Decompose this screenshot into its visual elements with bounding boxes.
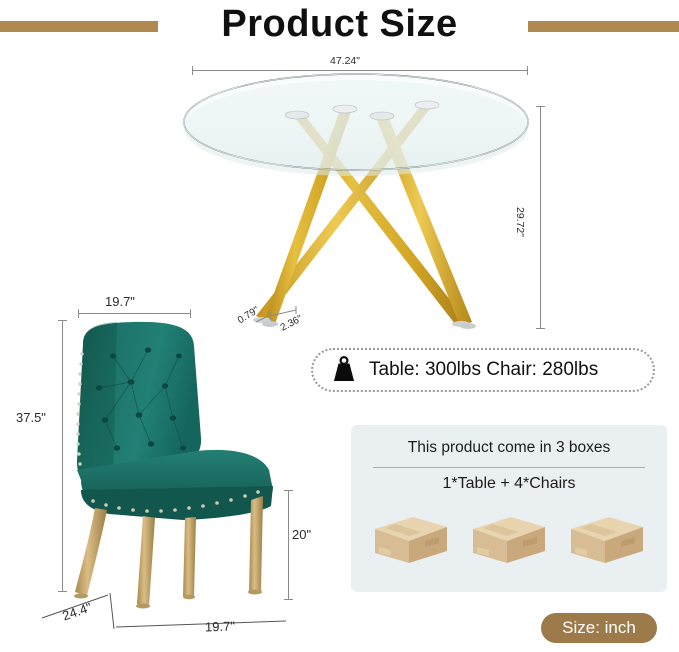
table-illustration — [180, 52, 540, 342]
packaging-divider — [373, 467, 645, 468]
product-size-infographic: Product Size — [0, 0, 679, 652]
chair-illustration — [55, 320, 310, 620]
packaging-subtitle: 1*Table + 4*Chairs — [351, 475, 667, 493]
weight-capacity-callout: Table: 300lbs Chair: 280lbs — [311, 348, 655, 392]
packaging-title: This product come in 3 boxes — [351, 439, 667, 457]
table-height-dimension-line — [540, 106, 541, 329]
cardboard-box-icon — [565, 511, 649, 567]
size-unit-badge: Size: inch — [541, 613, 657, 643]
table-height-label: 29.72" — [514, 207, 526, 237]
table-width-dimension-line — [192, 70, 528, 71]
page-title: Product Size — [0, 0, 679, 48]
chair-seat-height-dimension-line — [288, 490, 289, 600]
chair-width-top-label: 19.7" — [105, 294, 135, 309]
chair-height-dimension-line — [62, 320, 63, 592]
table-width-label: 47.24" — [330, 55, 360, 67]
chair-height-label: 37.5" — [16, 410, 46, 425]
chair-drawing — [55, 320, 310, 620]
chair-width-top-dimension-line — [78, 313, 191, 314]
weight-capacity-text: Table: 300lbs Chair: 280lbs — [369, 359, 598, 381]
cardboard-box-icon — [369, 511, 453, 567]
packaging-panel: This product come in 3 boxes 1*Table + 4… — [351, 425, 667, 592]
table-drawing — [180, 52, 540, 342]
packaging-box-row — [369, 507, 649, 567]
weight-icon — [329, 355, 359, 385]
chair-seat-height-label: 20" — [292, 527, 311, 542]
chair-width-bottom-label: 19.7" — [205, 618, 235, 634]
cardboard-box-icon — [467, 511, 551, 567]
